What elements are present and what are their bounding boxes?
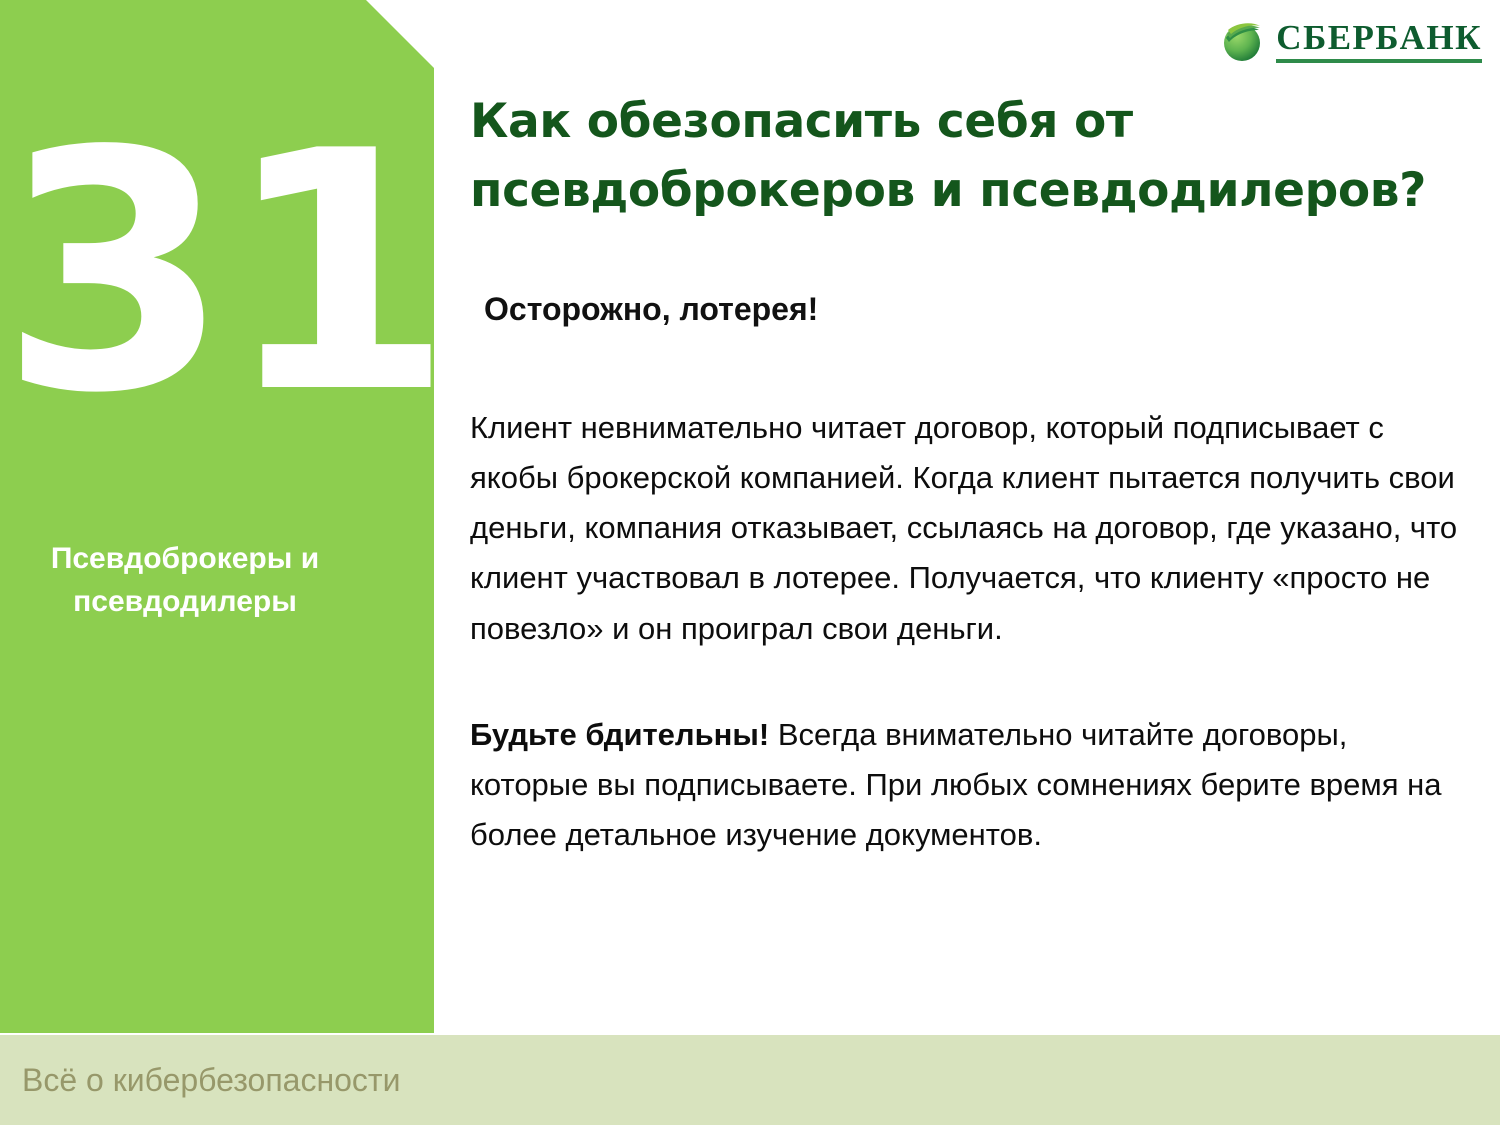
slide-number: 31 bbox=[0, 108, 420, 438]
main-content: Как обезопасить себя от псевдоброкеров и… bbox=[470, 0, 1460, 861]
footer-bar: Всё о кибербезопасности bbox=[0, 1035, 1500, 1125]
slide: 31 Псевдоброкеры и псевдодилеры СБЕР bbox=[0, 0, 1500, 1125]
lead-heading: Осторожно, лотерея! bbox=[470, 225, 1460, 331]
body-paragraph-2-bold-lead: Будьте бдительны! bbox=[470, 717, 769, 752]
footer-label: Всё о кибербезопасности bbox=[22, 1061, 400, 1099]
body-paragraph-2: Будьте бдительны! Всегда внимательно чит… bbox=[470, 654, 1460, 861]
sidebar-caption: Псевдоброкеры и псевдодилеры bbox=[0, 538, 370, 623]
body-paragraph-1: Клиент невнимательно читает договор, кот… bbox=[470, 331, 1460, 654]
sidebar-green-panel: 31 Псевдоброкеры и псевдодилеры bbox=[0, 0, 434, 1033]
page-title: Как обезопасить себя от псевдоброкеров и… bbox=[470, 0, 1460, 225]
